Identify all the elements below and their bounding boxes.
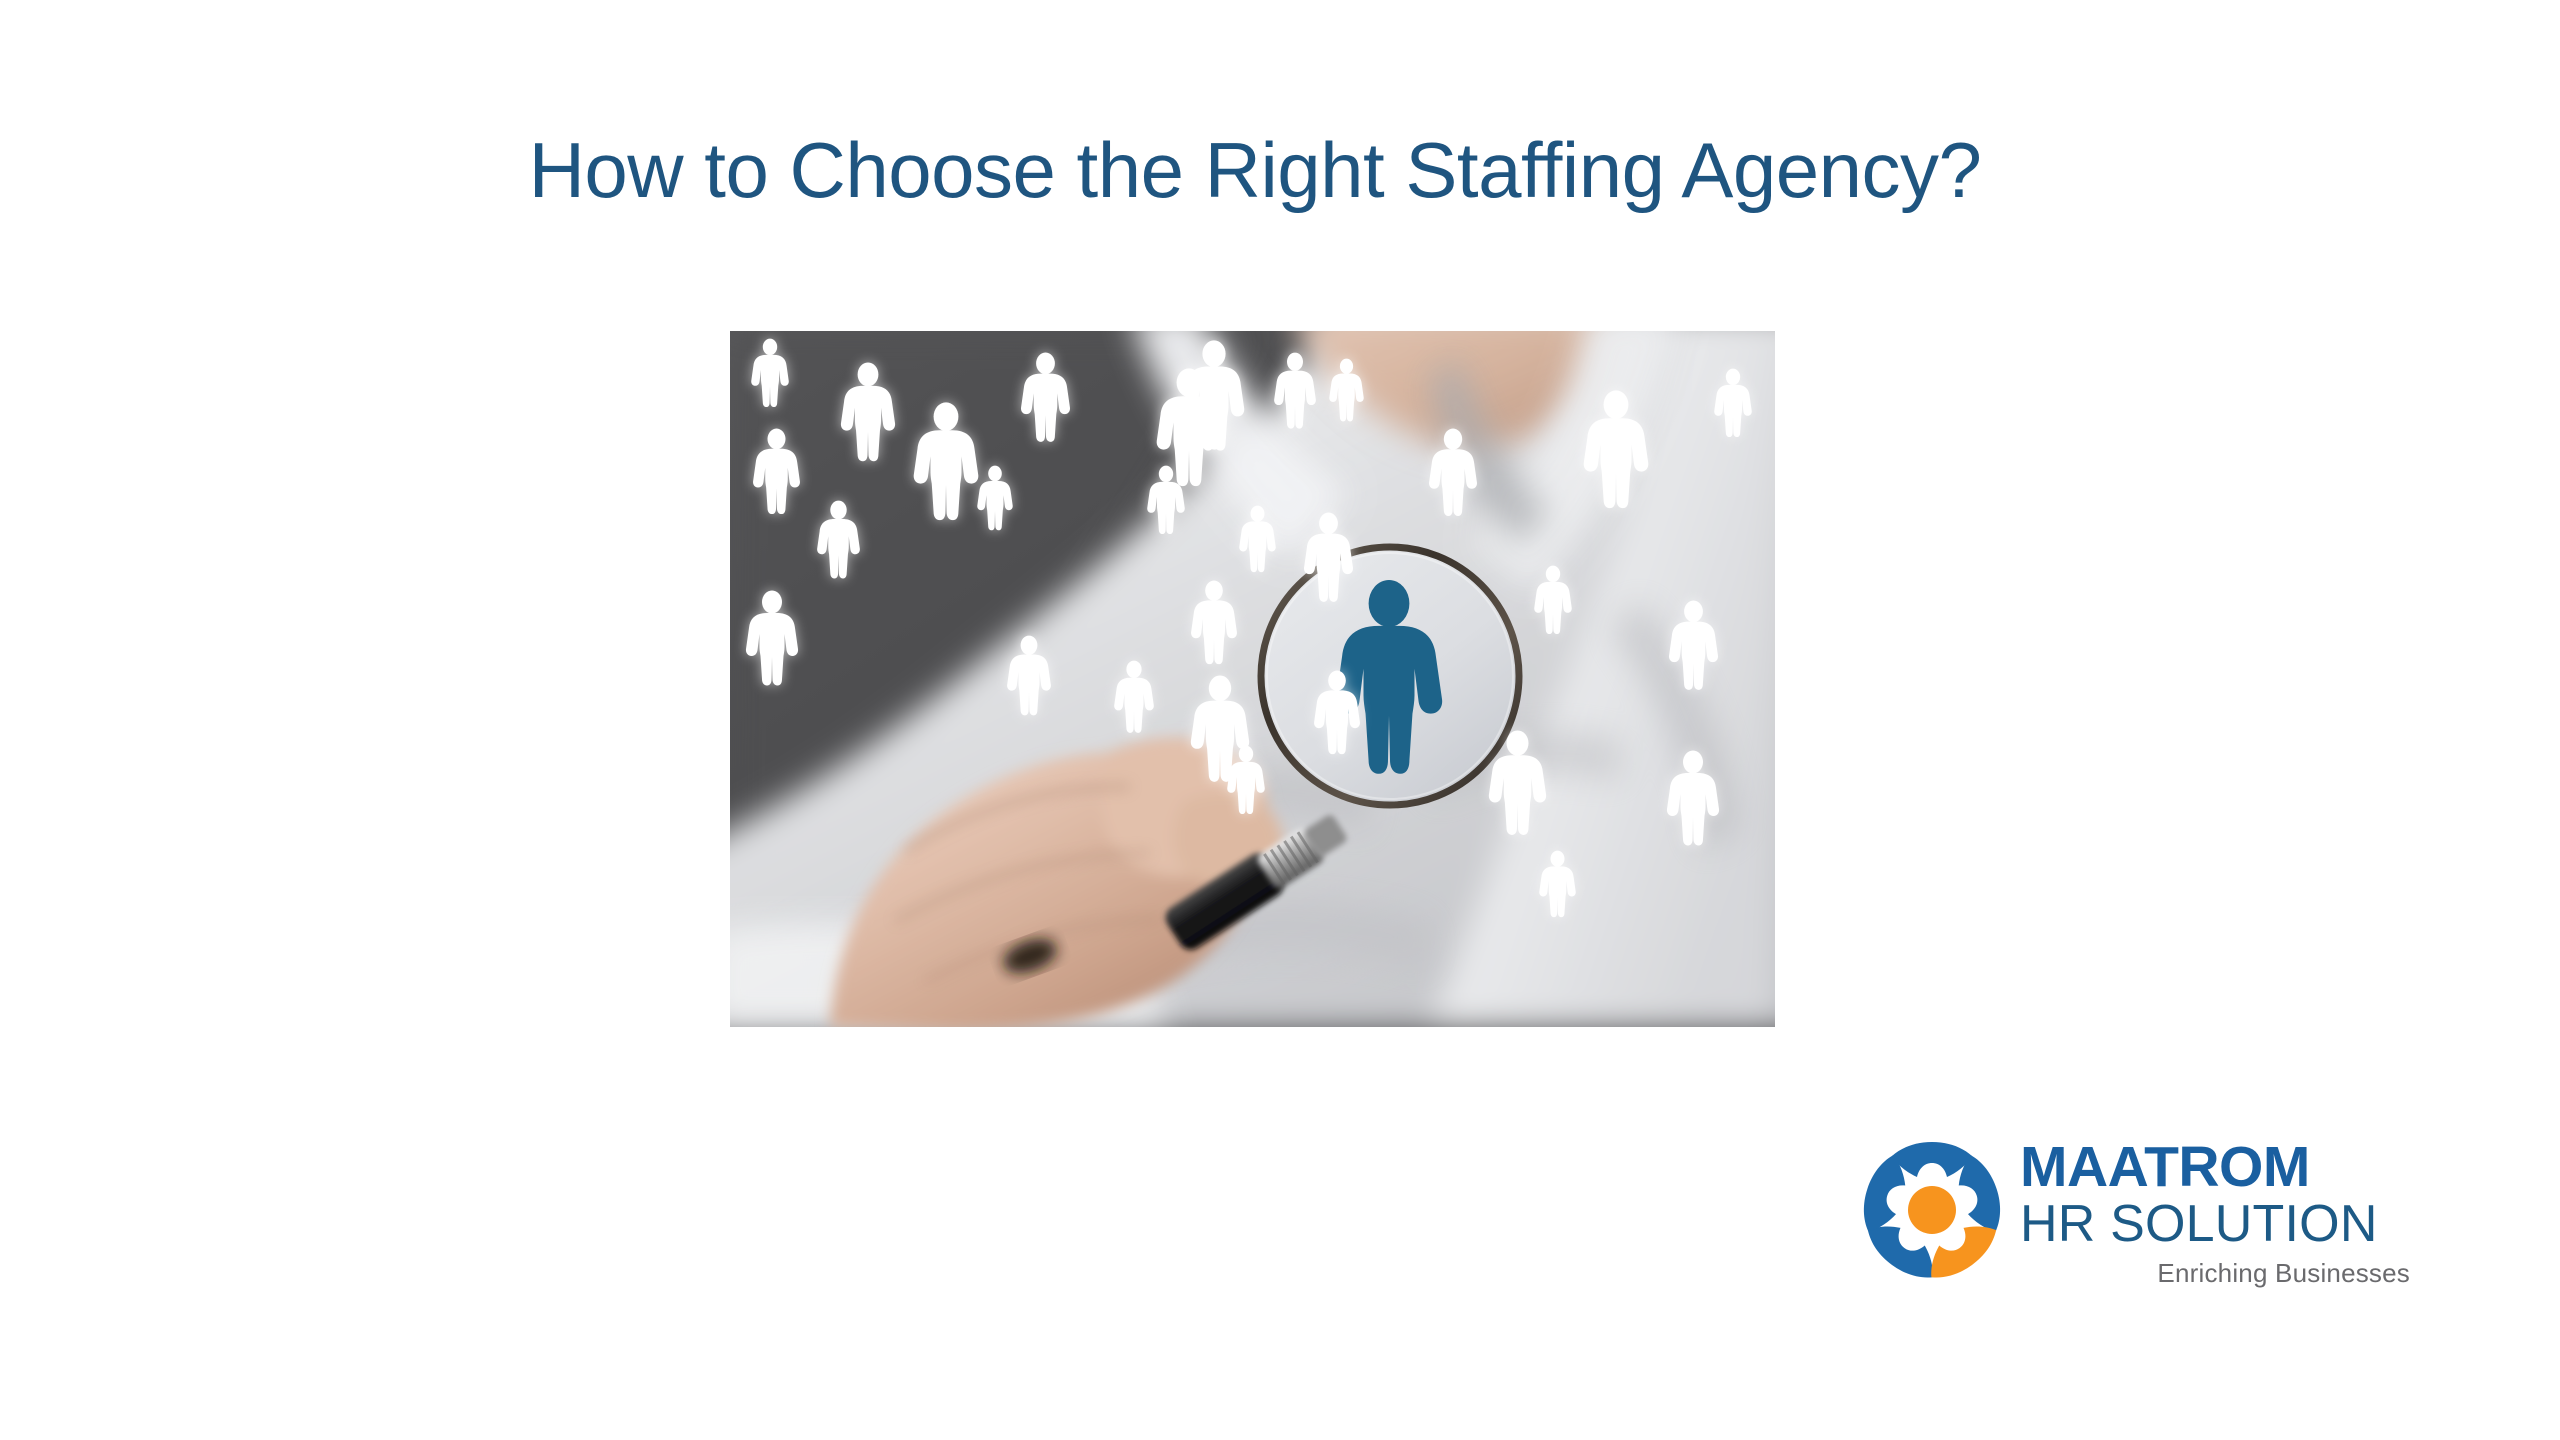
photo-illustration xyxy=(730,331,1775,1027)
company-logo: MAATROM HR SOLUTION Enriching Businesses xyxy=(1862,1138,2407,1313)
logo-brand-name: MAATROM xyxy=(2020,1138,2410,1197)
page-title: How to Choose the Right Staffing Agency? xyxy=(0,126,2510,216)
logo-tagline: Enriching Businesses xyxy=(2020,1258,2410,1289)
logo-wordmark: MAATROM HR SOLUTION Enriching Businesses xyxy=(2020,1138,2410,1289)
logo-brand-subtitle: HR SOLUTION xyxy=(2020,1197,2410,1252)
magnifier-lens xyxy=(1261,547,1519,805)
maatrom-gear-people-logo-icon xyxy=(1862,1140,2002,1280)
staffing-search-photo xyxy=(730,331,1775,1027)
slide-canvas: How to Choose the Right Staffing Agency? xyxy=(0,0,2560,1440)
